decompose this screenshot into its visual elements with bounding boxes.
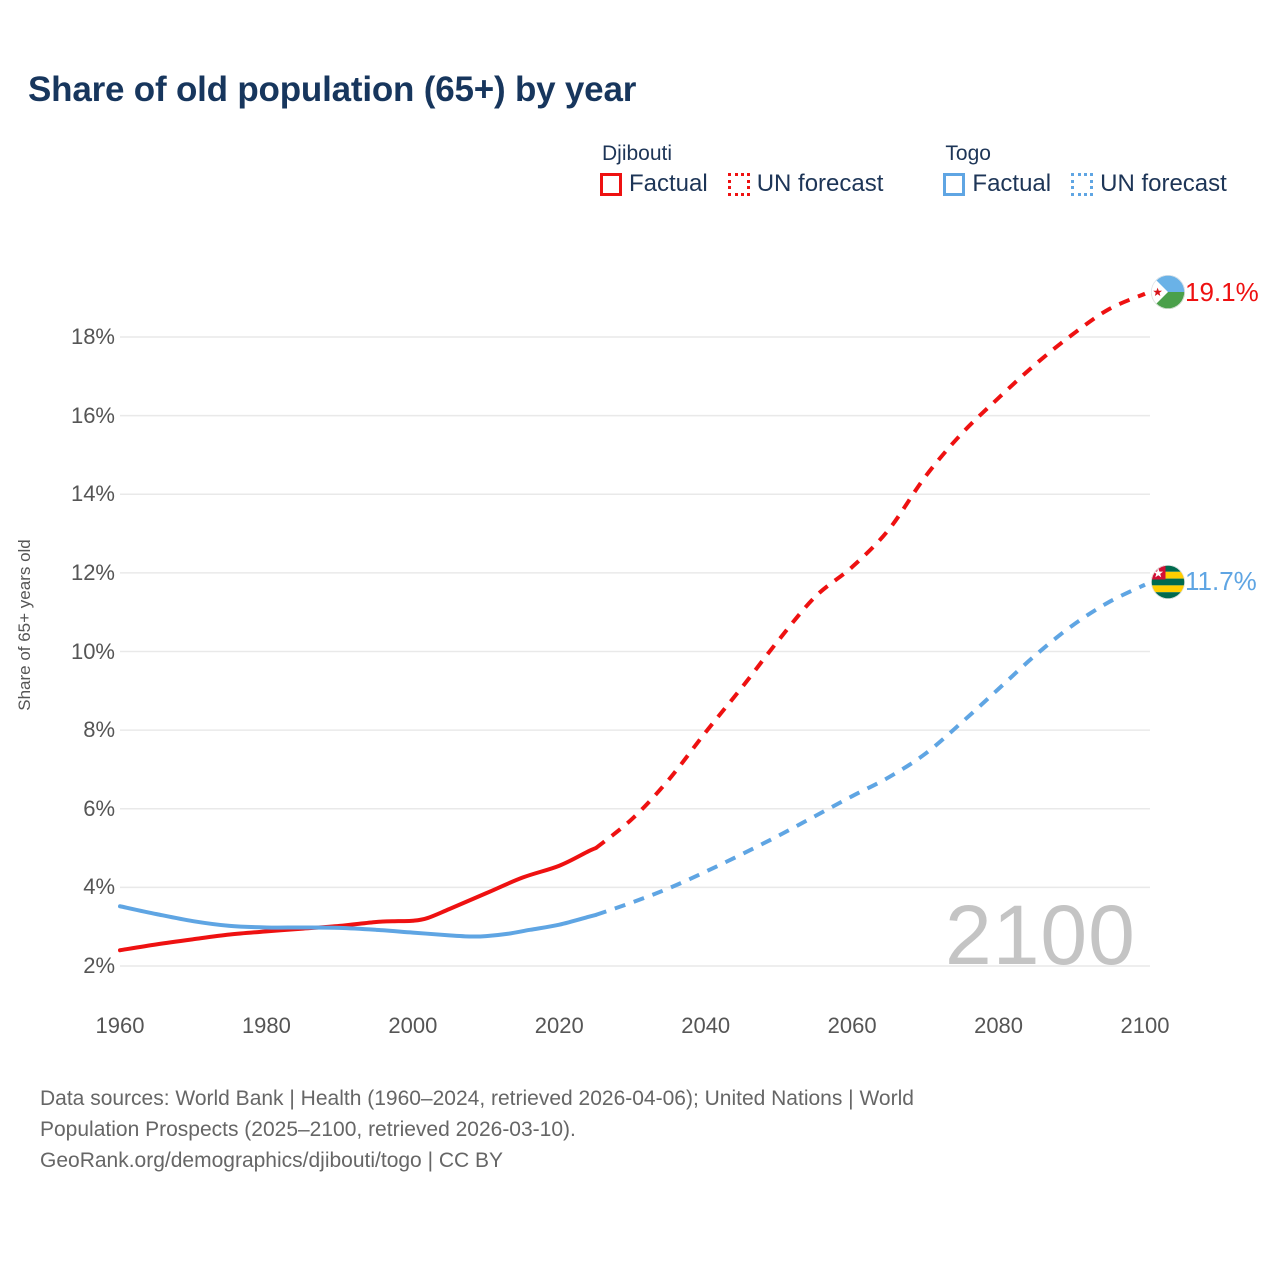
y-tick-label: 6% [15,796,115,822]
year-watermark: 2100 [945,893,1136,977]
legend-label-djibouti-forecast: UN forecast [757,170,884,198]
series-line-djibouti-forecast [596,294,1145,848]
legend-label-djibouti-factual: Factual [629,170,708,198]
x-tick-label: 2040 [646,1013,766,1039]
x-tick-label: 1960 [60,1013,180,1039]
legend-label-togo-factual: Factual [972,170,1051,198]
x-tick-label: 2060 [792,1013,912,1039]
y-tick-label: 2% [15,953,115,979]
legend-swatch-solid-blue [943,173,965,196]
legend-country-togo: Togo [943,142,1226,165]
chart-legend: Djibouti Factual UN forecast Togo Factua… [600,142,1227,198]
x-tick-label: 1980 [206,1013,326,1039]
djibouti-endpoint-label: 19.1% [1185,277,1259,308]
x-tick-label: 2100 [1085,1013,1205,1039]
footer-line-2: Population Prospects (2025–2100, retriev… [40,1114,1170,1145]
footer-line-3[interactable]: GeoRank.org/demographics/djibouti/togo |… [40,1145,1170,1176]
series-line-djibouti-factual [120,848,596,950]
y-tick-label: 4% [15,874,115,900]
y-tick-label: 8% [15,717,115,743]
footer-line-1: Data sources: World Bank | Health (1960–… [40,1083,1170,1114]
y-tick-label: 12% [15,560,115,586]
legend-item-togo-forecast[interactable]: UN forecast [1071,170,1227,198]
legend-swatch-dotted-blue [1071,173,1093,196]
chart-footer: Data sources: World Bank | Health (1960–… [40,1083,1170,1176]
legend-item-djibouti-forecast[interactable]: UN forecast [728,170,884,198]
legend-row-djibouti: Factual UN forecast [600,170,883,198]
series-line-togo-forecast [596,585,1145,915]
page-title: Share of old population (65+) by year [28,70,636,110]
legend-label-togo-forecast: UN forecast [1100,170,1227,198]
legend-country-djibouti: Djibouti [600,142,883,165]
chart-page: Share of old population (65+) by year Dj… [0,0,1280,1280]
x-tick-label: 2000 [353,1013,473,1039]
legend-swatch-dotted-red [728,173,750,196]
y-tick-label: 18% [15,324,115,350]
y-tick-label: 14% [15,481,115,507]
x-tick-label: 2020 [499,1013,619,1039]
series-line-togo-factual [120,906,596,936]
y-tick-label: 16% [15,403,115,429]
legend-swatch-solid-red [600,173,622,196]
legend-group-togo: Togo Factual UN forecast [943,142,1226,198]
togo-endpoint-label: 11.7% [1185,566,1257,597]
djibouti-flag-icon [1151,275,1185,309]
togo-flag-icon [1151,565,1185,599]
legend-item-togo-factual[interactable]: Factual [943,170,1051,198]
legend-row-togo: Factual UN forecast [943,170,1226,198]
y-tick-label: 10% [15,639,115,665]
legend-item-djibouti-factual[interactable]: Factual [600,170,708,198]
legend-group-djibouti: Djibouti Factual UN forecast [600,142,883,198]
x-tick-label: 2080 [939,1013,1059,1039]
